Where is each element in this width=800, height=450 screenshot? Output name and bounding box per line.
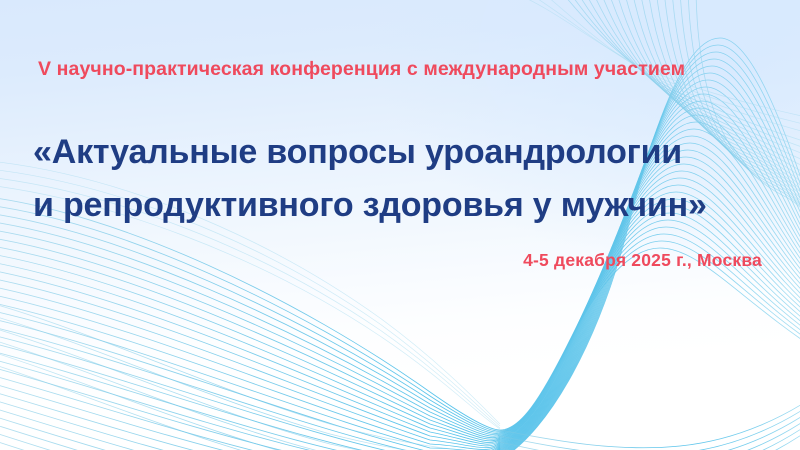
page-title: «Актуальные вопросы уроандрологии и репр… xyxy=(33,126,707,231)
page-title-line-1: «Актуальные вопросы уроандрологии xyxy=(33,126,707,179)
conference-kicker: V научно-практическая конференция с межд… xyxy=(38,58,685,81)
event-date-location: 4-5 декабря 2025 г., Москва xyxy=(523,250,762,271)
page-title-line-2: и репродуктивного здоровья у мужчин» xyxy=(33,179,707,232)
text-layer: V научно-практическая конференция с межд… xyxy=(0,0,800,450)
conference-banner: V научно-практическая конференция с межд… xyxy=(0,0,800,450)
